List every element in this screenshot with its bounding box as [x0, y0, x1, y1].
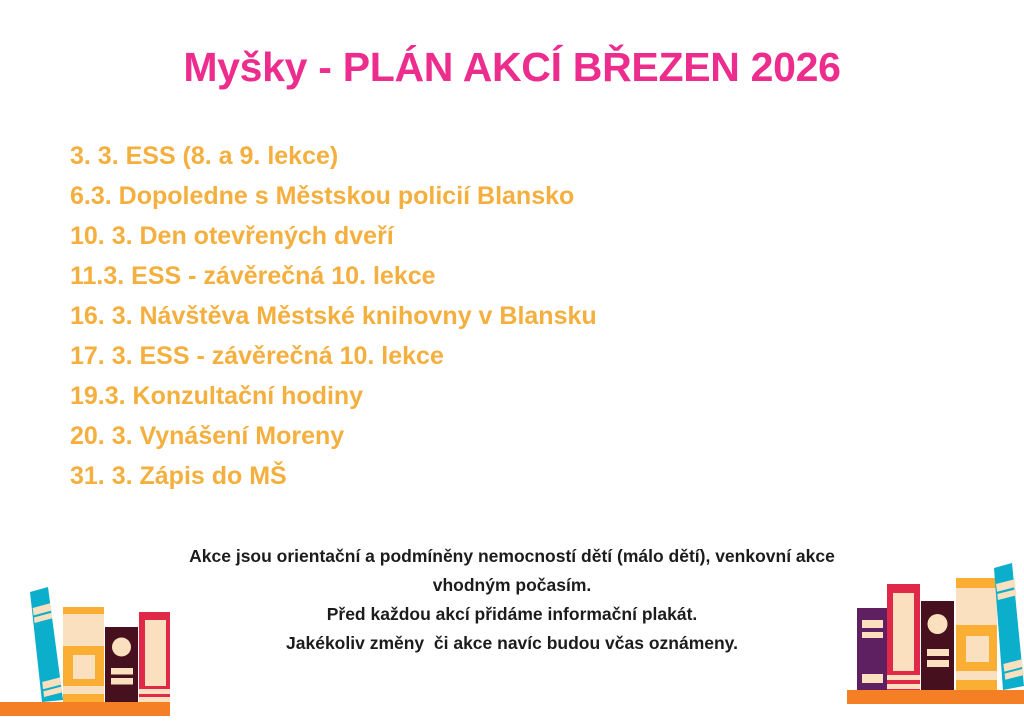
crimson-book-icon — [887, 584, 920, 690]
maroon-book-icon — [105, 627, 138, 702]
cyan-book-icon — [994, 563, 1024, 690]
list-item: 19.3. Konzultační hodiny — [70, 376, 890, 416]
bookshelf-right-icon — [839, 546, 1024, 724]
crimson-book-icon — [139, 612, 170, 702]
purple-book-icon — [857, 608, 887, 690]
note-line: vhodným počasím. — [92, 571, 932, 600]
shelf-board — [0, 702, 170, 716]
event-list: 3. 3. ESS (8. a 9. lekce) 6.3. Dopoledne… — [70, 136, 890, 496]
orange-book-icon — [63, 607, 104, 702]
poster-canvas: Myšky - PLÁN AKCÍ BŘEZEN 2026 3. 3. ESS … — [0, 0, 1024, 724]
disclaimer-note: Akce jsou orientační a podmíněny nemocno… — [92, 542, 932, 658]
list-item: 10. 3. Den otevřených dveří — [70, 216, 890, 256]
orange-book-icon — [956, 578, 997, 690]
bookshelf-left-icon — [0, 574, 170, 724]
list-item: 31. 3. Zápis do MŠ — [70, 456, 890, 496]
note-line: Akce jsou orientační a podmíněny nemocno… — [92, 542, 932, 571]
list-item: 17. 3. ESS - závěrečná 10. lekce — [70, 336, 890, 376]
list-item: 6.3. Dopoledne s Městskou policií Blansk… — [70, 176, 890, 216]
list-item: 3. 3. ESS (8. a 9. lekce) — [70, 136, 890, 176]
list-item: 16. 3. Návštěva Městské knihovny v Blans… — [70, 296, 890, 336]
shelf-board — [847, 690, 1024, 704]
note-line: Před každou akcí přidáme informační plak… — [92, 600, 932, 629]
list-item: 11.3. ESS - závěrečná 10. lekce — [70, 256, 890, 296]
note-line: Jakékoliv změny či akce navíc budou včas… — [92, 629, 932, 658]
list-item: 20. 3. Vynášení Moreny — [70, 416, 890, 456]
maroon-book-icon — [921, 601, 954, 690]
page-title: Myšky - PLÁN AKCÍ BŘEZEN 2026 — [0, 44, 1024, 91]
cyan-book-icon — [30, 587, 63, 702]
